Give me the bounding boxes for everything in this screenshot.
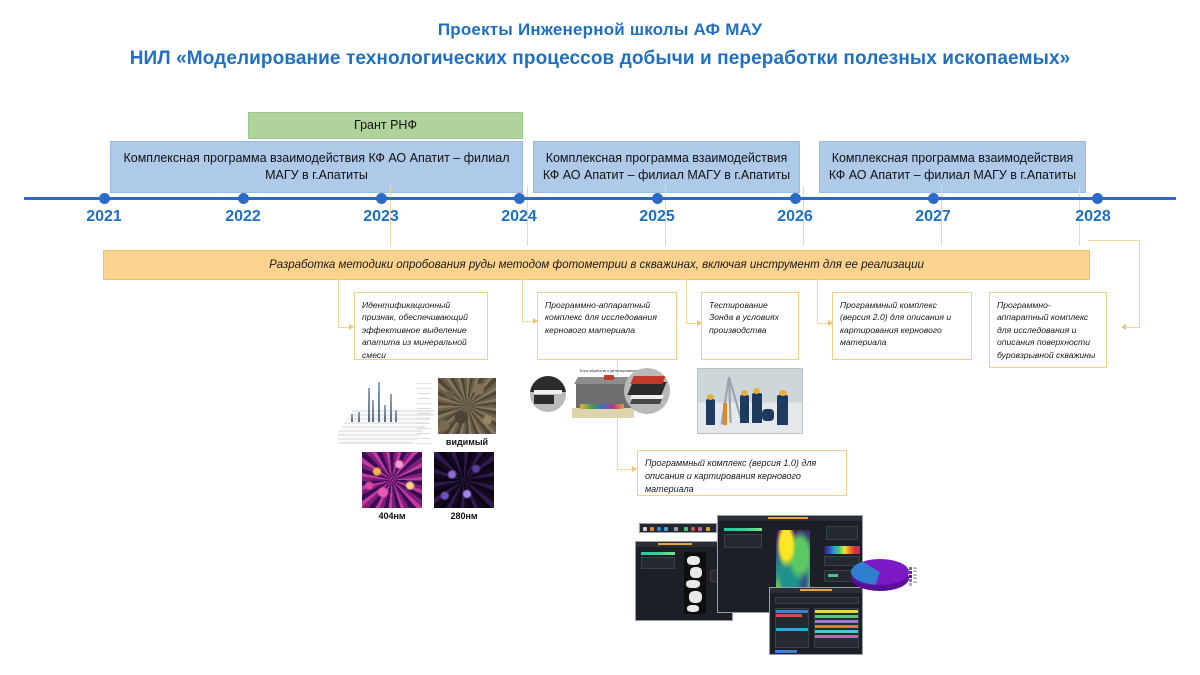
- figure-label-404nm: 404нм: [362, 511, 422, 521]
- card-hw-borehole-surface[interactable]: Программно-аппаратный комплекс для иссле…: [989, 292, 1107, 368]
- card-software-v1[interactable]: Программный комплекс (версия 1.0) для оп…: [637, 450, 847, 496]
- connector-line: [617, 469, 633, 470]
- timeline-bar-label: Комплексная программа взаимодействия КФ …: [119, 150, 514, 184]
- figure-sample-280nm: [434, 452, 494, 508]
- device-red-module: [604, 375, 614, 380]
- figure-label-visible: видимый: [438, 437, 496, 447]
- timeline-year-2028: 2028: [1063, 208, 1123, 226]
- figure-device-render: Блок обработки и детектирования: [528, 366, 672, 428]
- figure-surface-plot: [338, 378, 434, 450]
- timeline-node-2025[interactable]: [652, 193, 663, 204]
- card-text: Программный комплекс (версия 2.0) для оп…: [840, 300, 951, 347]
- app-toolbar-strip: [639, 523, 717, 533]
- figure-pie-chart: Элемент 1Элемент 2Элемент 3Элемент 4Элем…: [847, 553, 917, 599]
- card-text: Программный комплекс (версия 1.0) для оп…: [645, 458, 816, 494]
- connector-line: [338, 278, 339, 328]
- figure-software-screenshots: Элемент 1Элемент 2Элемент 3Элемент 4Элем…: [617, 505, 917, 655]
- figure-label-280nm: 280нм: [434, 511, 494, 521]
- device-callout-left: [530, 376, 566, 412]
- plot-peak: [368, 388, 370, 422]
- title-line-1: Проекты Инженерной школы АФ МАУ: [0, 18, 1200, 42]
- timeline-year-2025: 2025: [627, 208, 687, 226]
- timeline-bar-grant-rnf[interactable]: Грант РНФ: [248, 112, 523, 139]
- connector-arrow: [1121, 324, 1126, 330]
- timeline-node-2027[interactable]: [928, 193, 939, 204]
- timeline-bar-label: Грант РНФ: [354, 117, 417, 134]
- timeline-year-2023: 2023: [351, 208, 411, 226]
- infographic-canvas: Проекты Инженерной школы АФ МАУ НИЛ «Мод…: [0, 0, 1200, 675]
- timeline-bar-program-1[interactable]: Комплексная программа взаимодействия КФ …: [110, 141, 523, 193]
- plot-peak: [351, 414, 353, 422]
- card-probe-testing[interactable]: Тестирование Зонда в условиях производст…: [701, 292, 799, 360]
- card-hw-core-study[interactable]: Программно-аппаратный комплекс для иссле…: [537, 292, 677, 360]
- timeline-node-2022[interactable]: [238, 193, 249, 204]
- plot-axis-ticks: [417, 382, 431, 444]
- figure-sample-visible: [438, 378, 496, 434]
- device-callout-right: [624, 368, 670, 414]
- timeline-node-2023[interactable]: [376, 193, 387, 204]
- title-line-2: НИЛ «Моделирование технологических проце…: [0, 46, 1200, 72]
- page-title: Проекты Инженерной школы АФ МАУ НИЛ «Мод…: [0, 18, 1200, 72]
- plot-peak: [395, 410, 397, 422]
- plot-peak: [384, 405, 386, 422]
- timeline-bar-program-2[interactable]: Комплексная программа взаимодействия КФ …: [533, 141, 800, 193]
- device-callout-caption: Блок обработки и детектирования: [580, 369, 637, 373]
- connector-line: [522, 278, 523, 322]
- plot-peak: [378, 382, 380, 422]
- timeline-year-2024: 2024: [489, 208, 549, 226]
- timeline-axis: [24, 197, 1176, 200]
- figure-sample-404nm: [362, 452, 422, 508]
- plot-peak: [390, 394, 392, 422]
- timeline-year-2022: 2022: [213, 208, 273, 226]
- methodology-banner-label: Разработка методики опробования руды мет…: [269, 259, 924, 271]
- plot-peak: [358, 412, 360, 422]
- card-text: Программно-аппаратный комплекс для иссле…: [997, 300, 1095, 360]
- connector-line: [1126, 327, 1140, 328]
- plot-peak: [372, 400, 374, 422]
- card-text: Идентификационный признак, обеспечивающи…: [362, 300, 468, 360]
- timeline-year-2026: 2026: [765, 208, 825, 226]
- connector-line: [1139, 240, 1140, 328]
- card-text: Программно-аппаратный комплекс для иссле…: [545, 300, 657, 335]
- connector-line: [686, 278, 687, 324]
- timeline-node-2026[interactable]: [790, 193, 801, 204]
- timeline-node-2024[interactable]: [514, 193, 525, 204]
- card-identification[interactable]: Идентификационный признак, обеспечивающи…: [354, 292, 488, 360]
- figure-field-photo: [697, 368, 803, 434]
- timeline-node-2021[interactable]: [99, 193, 110, 204]
- timeline-year-2027: 2027: [903, 208, 963, 226]
- card-software-v2[interactable]: Программный комплекс (версия 2.0) для оп…: [832, 292, 972, 360]
- device-led-array: [580, 404, 624, 409]
- card-text: Тестирование Зонда в условиях производст…: [709, 300, 779, 335]
- methodology-banner[interactable]: Разработка методики опробования руды мет…: [103, 250, 1090, 280]
- connector-line: [817, 278, 818, 324]
- timeline-bar-label: Комплексная программа взаимодействия КФ …: [542, 150, 791, 184]
- timeline-node-2028[interactable]: [1092, 193, 1103, 204]
- timeline-bar-label: Комплексная программа взаимодействия КФ …: [828, 150, 1077, 184]
- connector-line: [1088, 240, 1140, 241]
- timeline-year-2021: 2021: [74, 208, 134, 226]
- timeline-bar-program-3[interactable]: Комплексная программа взаимодействия КФ …: [819, 141, 1086, 193]
- device-base-tray: [572, 408, 634, 418]
